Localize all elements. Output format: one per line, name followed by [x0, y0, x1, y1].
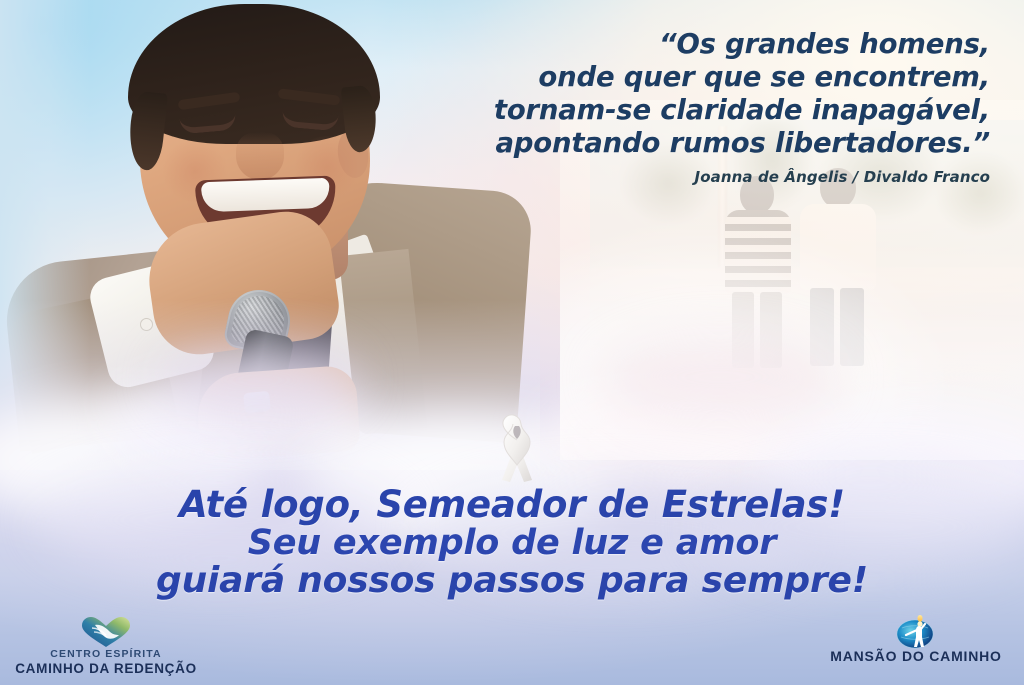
heart-with-hands-icon: [6, 616, 206, 648]
logo-left-line-2: CAMINHO DA REDENÇÃO: [6, 661, 206, 677]
scene-figure-white-shirt: [798, 168, 880, 366]
quote-line-4: apontando rumos libertadores.”: [430, 127, 990, 160]
logo-right-line-1: MANSÃO DO CAMINHO: [816, 648, 1016, 665]
finger-ring: [243, 391, 271, 414]
headline-line-2: Seu exemplo de luz e amor: [0, 524, 1024, 562]
cuff-button: [140, 318, 153, 331]
scene-figure-striped-shirt: [720, 176, 794, 366]
figure-legs: [810, 288, 868, 366]
quote-block: “Os grandes homens, onde quer que se enc…: [430, 28, 990, 160]
headline-block: Até logo, Semeador de Estrelas! Seu exem…: [0, 486, 1024, 600]
figure-torso: [725, 210, 791, 294]
hand-holding-microphone: [195, 365, 361, 462]
quote-attribution: Joanna de Ângelis / Divaldo Franco: [430, 168, 990, 186]
white-awareness-ribbon-icon: [482, 410, 552, 488]
upper-teeth: [201, 178, 330, 212]
figure-legs: [730, 292, 786, 368]
logo-mansao-do-caminho: MANSÃO DO CAMINHO: [816, 616, 1016, 665]
nose: [236, 132, 284, 180]
quote-line-1: “Os grandes homens,: [430, 28, 990, 61]
headline-line-3: guiará nossos passos para sempre!: [0, 562, 1024, 600]
memorial-poster: “Os grandes homens, onde quer que se enc…: [0, 0, 1024, 685]
quote-line-2: onde quer que se encontrem,: [430, 61, 990, 94]
figure-torso: [800, 204, 876, 290]
hair: [128, 4, 380, 144]
quote-line-3: tornam-se claridade inapagável,: [430, 94, 990, 127]
headline-line-1: Até logo, Semeador de Estrelas!: [0, 486, 1024, 524]
logo-centro-espirita: CENTRO ESPÍRITA CAMINHO DA REDENÇÃO: [6, 616, 206, 677]
globe-with-figure-icon: [816, 616, 1016, 648]
logo-left-line-1: CENTRO ESPÍRITA: [6, 648, 206, 661]
